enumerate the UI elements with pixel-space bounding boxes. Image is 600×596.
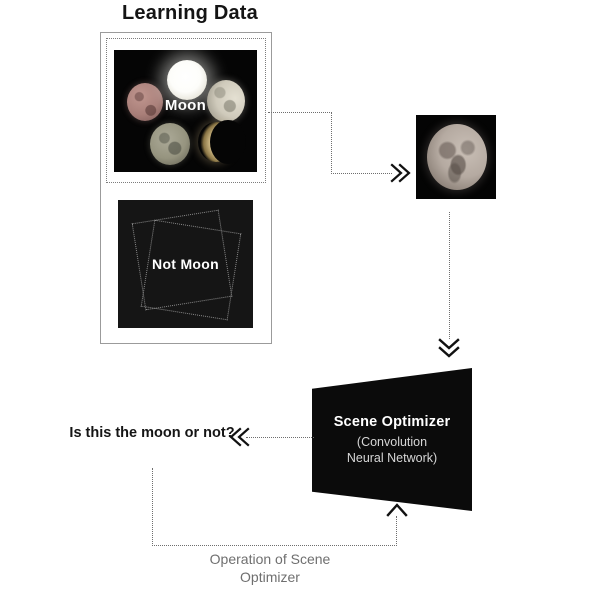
moon-class-tile: Moon xyxy=(114,50,257,172)
connector-feedback-bottom-segment xyxy=(152,545,397,546)
learning-data-title: Learning Data xyxy=(80,2,300,25)
moon-sample-rose-full-moon xyxy=(127,83,163,121)
moon-sample-pale-gibbous-moon xyxy=(207,80,245,122)
question-text: Is this the moon or not? xyxy=(68,424,236,444)
not-moon-class-label: Not Moon xyxy=(152,256,219,272)
target-moon-disc xyxy=(427,124,487,190)
connector-photo-to-optimizer xyxy=(449,212,450,339)
diagram-canvas: Learning Data Moon Not Moon xyxy=(0,0,600,596)
connector-learning-to-photo-segment-2 xyxy=(331,112,332,174)
chevron-up-icon xyxy=(385,500,409,520)
connector-optimizer-to-question xyxy=(246,437,314,438)
double-chevron-down-icon xyxy=(437,336,461,360)
connector-feedback-up-segment xyxy=(396,516,397,546)
moon-sample-bright-full-moon xyxy=(167,60,207,100)
moon-sample-gray-olive-full-moon xyxy=(150,123,190,165)
scene-optimizer-shape xyxy=(312,368,472,511)
not-moon-class-tile: Not Moon xyxy=(118,200,253,328)
operation-caption: Operation of Scene Optimizer xyxy=(175,550,365,586)
moon-class-label: Moon xyxy=(165,97,206,114)
connector-learning-to-photo-segment-3 xyxy=(331,173,392,174)
connector-feedback-left-segment xyxy=(152,468,153,546)
double-chevron-right-icon xyxy=(388,162,412,184)
connector-learning-to-photo-segment-1 xyxy=(268,112,332,113)
target-moon-photo-tile xyxy=(416,115,496,199)
moon-sample-golden-crescent-moon xyxy=(198,122,234,162)
